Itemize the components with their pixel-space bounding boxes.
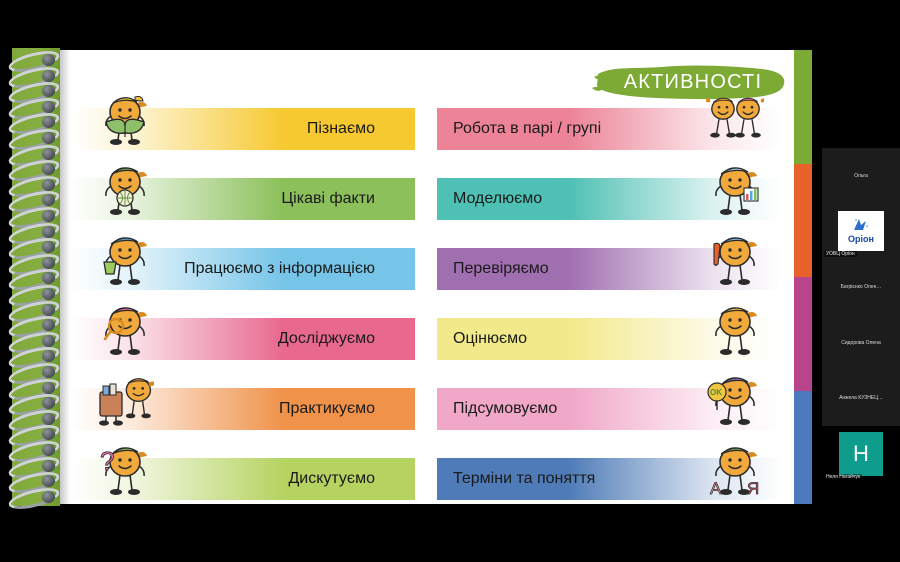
spiral-ring xyxy=(6,99,64,114)
participant-sidebar[interactable]: Ольга ОріонУОВЦ ОріонБагрієнко Олен…Сидо… xyxy=(822,148,900,426)
participant-name: Неля Нагайчук xyxy=(824,474,862,480)
spiral-ring xyxy=(6,52,64,67)
activity-row: Моделюємо xyxy=(437,178,782,220)
spiral-ring xyxy=(6,364,64,379)
activity-row: Робота в парі / групі xyxy=(437,108,782,150)
activity-label: Пізнаємо xyxy=(307,120,375,138)
activity-label: Моделюємо xyxy=(453,190,542,208)
orion-logo-text: Оріон xyxy=(838,234,884,244)
participant-name: УОВЦ Оріон xyxy=(824,251,857,257)
participant-tile[interactable]: ОріонУОВЦ Оріон xyxy=(822,204,900,260)
activity-row: Працюємо з інформацією xyxy=(70,248,415,290)
activity-row: Цікаві факти xyxy=(70,178,415,220)
spiral-ring xyxy=(6,348,64,363)
activity-row: Терміни та поняття А Я xyxy=(437,458,782,500)
activity-label: Перевіряємо xyxy=(453,260,549,278)
right-activity-column: Робота в парі / групі xyxy=(437,108,782,500)
shared-slide: АКТИВНОСТІ Пізнаємо Цікаві факти Працюєм… xyxy=(0,48,822,506)
spiral-rings xyxy=(6,52,66,504)
spiral-ring xyxy=(6,380,64,395)
spiral-ring xyxy=(6,411,64,426)
activity-label: Дискутуємо xyxy=(288,470,375,488)
activity-row: Перевіряємо xyxy=(437,248,782,290)
activity-columns: Пізнаємо Цікаві факти Працюємо з інформа… xyxy=(60,108,794,500)
activity-bar: Оцінюємо xyxy=(437,318,782,360)
activity-bar: Практикуємо xyxy=(70,388,415,430)
activity-bar: Підсумовуємо xyxy=(437,388,782,430)
blue-tab xyxy=(794,391,812,505)
spiral-ring xyxy=(6,130,64,145)
activity-bar: Робота в парі / групі xyxy=(437,108,782,150)
spiral-ring xyxy=(6,208,64,223)
spiral-ring xyxy=(6,473,64,488)
slide-title-banner: АКТИВНОСТІ xyxy=(592,62,788,102)
activity-row: Пізнаємо xyxy=(70,108,415,150)
spiral-ring xyxy=(6,426,64,441)
magenta-tab xyxy=(794,277,812,391)
slide-page: АКТИВНОСТІ Пізнаємо Цікаві факти Працюєм… xyxy=(60,50,812,504)
activity-label: Оцінюємо xyxy=(453,330,527,348)
avatar: Н xyxy=(839,432,883,476)
activity-bar: Дискутуємо xyxy=(70,458,415,500)
activity-row: Досліджуємо xyxy=(70,318,415,360)
activity-label: Цікаві факти xyxy=(281,190,375,208)
spiral-ring xyxy=(6,317,64,332)
activity-bar: Працюємо з інформацією xyxy=(70,248,415,290)
orange-tab xyxy=(794,164,812,278)
activity-row: Практикуємо xyxy=(70,388,415,430)
participant-tile[interactable]: Багрієнко Олен… xyxy=(822,259,900,315)
page-spine-shadow xyxy=(60,48,70,506)
spiral-ring xyxy=(6,224,64,239)
participant-tile[interactable]: Анжела КУЗНЕЦ… xyxy=(822,370,900,426)
participant-name: Багрієнко Олен… xyxy=(841,284,882,290)
spiral-ring xyxy=(6,177,64,192)
activity-bar: Терміни та поняття xyxy=(437,458,782,500)
orion-logo-icon xyxy=(850,216,872,234)
activity-bar: Цікаві факти xyxy=(70,178,415,220)
activity-label: Терміни та поняття xyxy=(453,470,595,488)
participant-video-thumbnail: Оріон xyxy=(838,211,884,251)
spiral-ring xyxy=(6,458,64,473)
participant-name: Сидорова Олена xyxy=(841,340,881,346)
activity-bar: Перевіряємо xyxy=(437,248,782,290)
spiral-ring xyxy=(6,146,64,161)
participant-tile[interactable]: Сидорова Олена xyxy=(822,315,900,371)
green-tab xyxy=(794,50,812,164)
spiral-ring xyxy=(6,302,64,317)
spiral-ring xyxy=(6,286,64,301)
slide-title: АКТИВНОСТІ xyxy=(592,62,788,102)
spiral-ring xyxy=(6,270,64,285)
activity-row: Оцінюємо xyxy=(437,318,782,360)
spiral-ring xyxy=(6,68,64,83)
activity-label: Практикуємо xyxy=(279,400,375,418)
activity-label: Досліджуємо xyxy=(278,330,375,348)
screen: АКТИВНОСТІ Пізнаємо Цікаві факти Працюєм… xyxy=(0,0,900,562)
spiral-ring xyxy=(6,114,64,129)
activity-label: Підсумовуємо xyxy=(453,400,557,418)
activity-bar: Пізнаємо xyxy=(70,108,415,150)
activity-row: Дискутуємо ? xyxy=(70,458,415,500)
participant-name: Анжела КУЗНЕЦ… xyxy=(839,395,883,401)
spiral-ring xyxy=(6,255,64,270)
spiral-ring xyxy=(6,442,64,457)
spiral-ring xyxy=(6,489,64,504)
spiral-ring xyxy=(6,333,64,348)
spiral-ring xyxy=(6,161,64,176)
activity-bar: Досліджуємо xyxy=(70,318,415,360)
participant-tile[interactable]: Ольга xyxy=(822,148,900,204)
activity-row: Підсумовуємо OK xyxy=(437,388,782,430)
spiral-ring xyxy=(6,192,64,207)
edge-tab-strip xyxy=(794,50,812,504)
activity-label: Робота в парі / групі xyxy=(453,120,601,138)
spiral-ring xyxy=(6,239,64,254)
activity-label: Працюємо з інформацією xyxy=(184,260,375,278)
participant-name: Ольга xyxy=(854,173,868,179)
participant-tile[interactable]: ННеля Нагайчук xyxy=(822,426,900,482)
spiral-ring xyxy=(6,395,64,410)
spiral-ring xyxy=(6,83,64,98)
left-activity-column: Пізнаємо Цікаві факти Працюємо з інформа… xyxy=(70,108,415,500)
activity-bar: Моделюємо xyxy=(437,178,782,220)
